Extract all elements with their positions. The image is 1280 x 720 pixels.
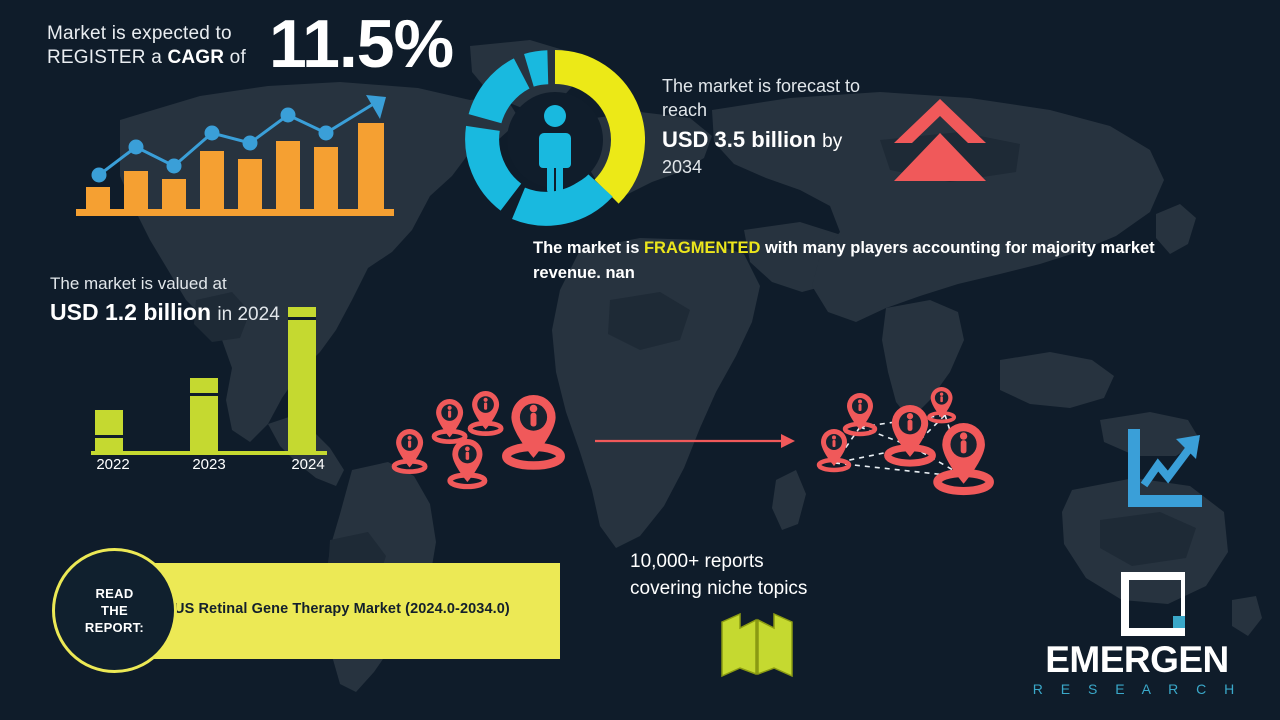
location-pin <box>434 399 465 442</box>
location-pin-large <box>506 395 560 466</box>
tick-label-2024: 2024 <box>291 456 324 470</box>
emergen-research-logo: EMERGEN R E S E A R C H <box>1022 568 1252 703</box>
green-chart-tick-labels: 2022 2023 2024 <box>96 456 324 470</box>
location-pin-large <box>937 423 989 491</box>
tick-label-2023: 2023 <box>192 456 225 470</box>
location-pin <box>450 439 485 487</box>
location-pin <box>819 429 849 470</box>
read-the-report-label: READ THE REPORT: <box>85 585 144 636</box>
reports-count-block: 10,000+ reports covering niche topics <box>630 548 890 602</box>
cagr-value: 11.5% <box>269 10 453 78</box>
market-value-lead: The market is valued at <box>50 273 400 295</box>
connected-location-pins-network <box>805 385 1015 500</box>
cagr-lead-text: Market is expected to REGISTER a CAGR of <box>47 22 262 70</box>
report-title: US Retinal Gene Therapy Market (2024.0-2… <box>174 601 510 617</box>
forecast-year: 2034 <box>662 156 892 179</box>
open-book-icon <box>718 610 796 680</box>
growth-chart-icon <box>1120 425 1210 515</box>
cagr-lead-line2-post: of <box>224 47 246 68</box>
logo-subtitle: R E S E A R C H <box>1022 680 1252 698</box>
infographic-canvas: Market is expected to REGISTER a CAGR of… <box>0 0 1280 720</box>
scattered-location-pins <box>378 385 588 490</box>
forecast-block: The market is forecast to reach USD 3.5 … <box>662 74 892 179</box>
fragmentation-statement: The market is FRAGMENTED with many playe… <box>533 236 1213 286</box>
location-pin <box>470 391 501 434</box>
cagr-lead-bold: CAGR <box>167 47 224 68</box>
green-bars <box>95 307 316 453</box>
fragmentation-highlight: FRAGMENTED <box>644 239 760 257</box>
cagr-lead-line2-pre: REGISTER a <box>47 47 167 68</box>
market-share-donut-chart <box>465 50 645 230</box>
orange-bars <box>86 123 384 211</box>
up-arrows-icon <box>890 95 990 185</box>
forecast-lead-text: The market is forecast to reach <box>662 74 892 122</box>
fragmentation-pre: The market is <box>533 239 644 257</box>
green-chart-baseline <box>91 451 327 455</box>
read-the-report-badge[interactable]: READ THE REPORT: <box>52 548 177 673</box>
forecast-value: USD 3.5 billion by <box>662 126 892 156</box>
fragmentation-line: The market is FRAGMENTED with many playe… <box>533 236 1213 286</box>
location-pin <box>845 393 875 434</box>
zigzag-line <box>1144 445 1192 485</box>
cagr-lead-line1: Market is expected to <box>47 23 232 44</box>
forecast-value-light: by <box>822 131 842 152</box>
location-pin <box>394 429 425 472</box>
growth-bar-chart <box>70 85 410 220</box>
chart-baseline <box>76 209 394 216</box>
report-banner[interactable]: US Retinal Gene Therapy Market (2024.0-2… <box>152 563 560 659</box>
tick-label-2022: 2022 <box>96 456 129 470</box>
read-line-2: THE <box>101 603 128 618</box>
reports-count-line2: covering niche topics <box>630 575 890 602</box>
logo-wordmark: EMERGEN <box>1022 640 1252 680</box>
forecast-value-bold: USD 3.5 billion <box>662 127 816 152</box>
transition-arrow-icon <box>595 430 795 452</box>
read-line-3: REPORT: <box>85 620 144 635</box>
market-value-bar-chart: 2022 2023 2024 <box>85 295 335 470</box>
reports-count-line1: 10,000+ reports <box>630 548 890 575</box>
read-line-1: READ <box>95 586 133 601</box>
logo-mark-icon <box>1117 568 1189 640</box>
